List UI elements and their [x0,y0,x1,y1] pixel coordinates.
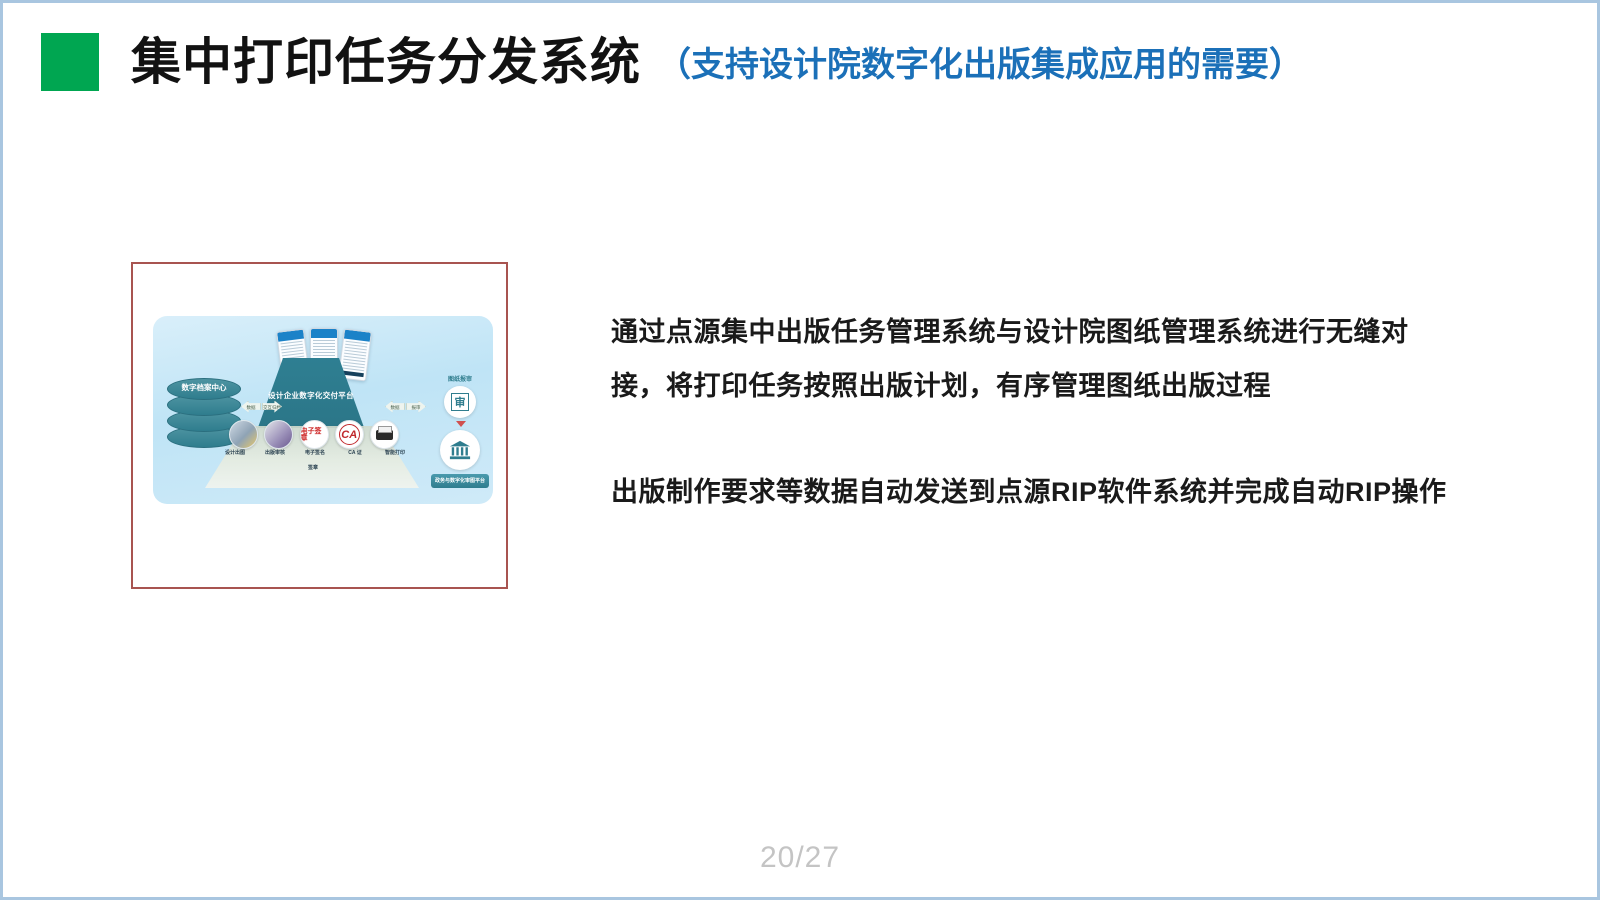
database-label: 数字档案中心 [167,378,241,398]
down-arrow-icon [456,421,466,427]
capability-caption: 设计出图 [215,450,255,458]
archive-exchange-arrows: 数据 交互归档 [241,400,282,413]
capability-caption-row: 设计出图 出版审核 电子签名 CA 证 智能打印 [215,450,415,458]
capability-caption-secondline: 签章 [273,464,353,471]
delivery-platform-diagram: 设计企业数字化交付平台 数字档案中心 数据 交互归档 数据 报审 [153,316,493,504]
body-text-block: 通过点源集中出版任务管理系统与设计院图纸管理系统进行无缝对接，将打印任务按照出版… [611,278,1453,546]
arrow-right-icon: 交互归档 [262,401,282,413]
arrow-left-icon: 数据 [241,401,261,413]
body-paragraph-1: 通过点源集中出版任务管理系统与设计院图纸管理系统进行无缝对接，将打印任务按照出版… [611,305,1453,413]
smart-printer-icon [370,420,399,449]
diagram-picture-frame: 设计企业数字化交付平台 数字档案中心 数据 交互归档 数据 报审 [131,262,508,589]
capability-caption: 电子签名 [295,450,335,458]
ca-certificate-icon: CA [335,420,364,449]
drawing-submit-label: 图纸报审 [437,374,483,383]
printer-paper [378,426,392,433]
publish-review-icon [264,420,293,449]
review-stamp-icon: 审 [444,386,476,418]
page-number: 20/27 [3,841,1597,875]
government-building-icon [440,430,480,470]
capability-caption: CA 证 [335,450,375,458]
capability-icon-row: 电子签章 CA [229,420,399,449]
arrow-left-icon: 数据 [385,401,405,413]
capability-caption: 智能打印 [375,450,415,458]
electronic-seal-icon: 电子签章 [300,420,329,449]
page-subtitle: （支持设计院数字化出版集成应用的需要） [657,48,1303,82]
design-drawing-icon [229,420,258,449]
title-accent-square [41,33,99,91]
government-platform-label: 政务与数字化审图平台 [431,474,489,488]
page-title: 集中打印任务分发系统 [131,37,641,87]
slide-header: 集中打印任务分发系统 （支持设计院数字化出版集成应用的需要） [41,29,1303,95]
phone-status-bar [311,329,337,338]
arrow-right-icon: 报审 [406,401,426,413]
review-exchange-arrows: 数据 报审 [385,400,426,413]
body-paragraph-2: 出版制作要求等数据自动发送到点源RIP软件系统并完成自动RIP操作 [611,465,1453,519]
capability-caption: 出版审核 [255,450,295,458]
slide-canvas: 集中打印任务分发系统 （支持设计院数字化出版集成应用的需要） [0,0,1600,900]
phone-content-lines [340,339,369,372]
